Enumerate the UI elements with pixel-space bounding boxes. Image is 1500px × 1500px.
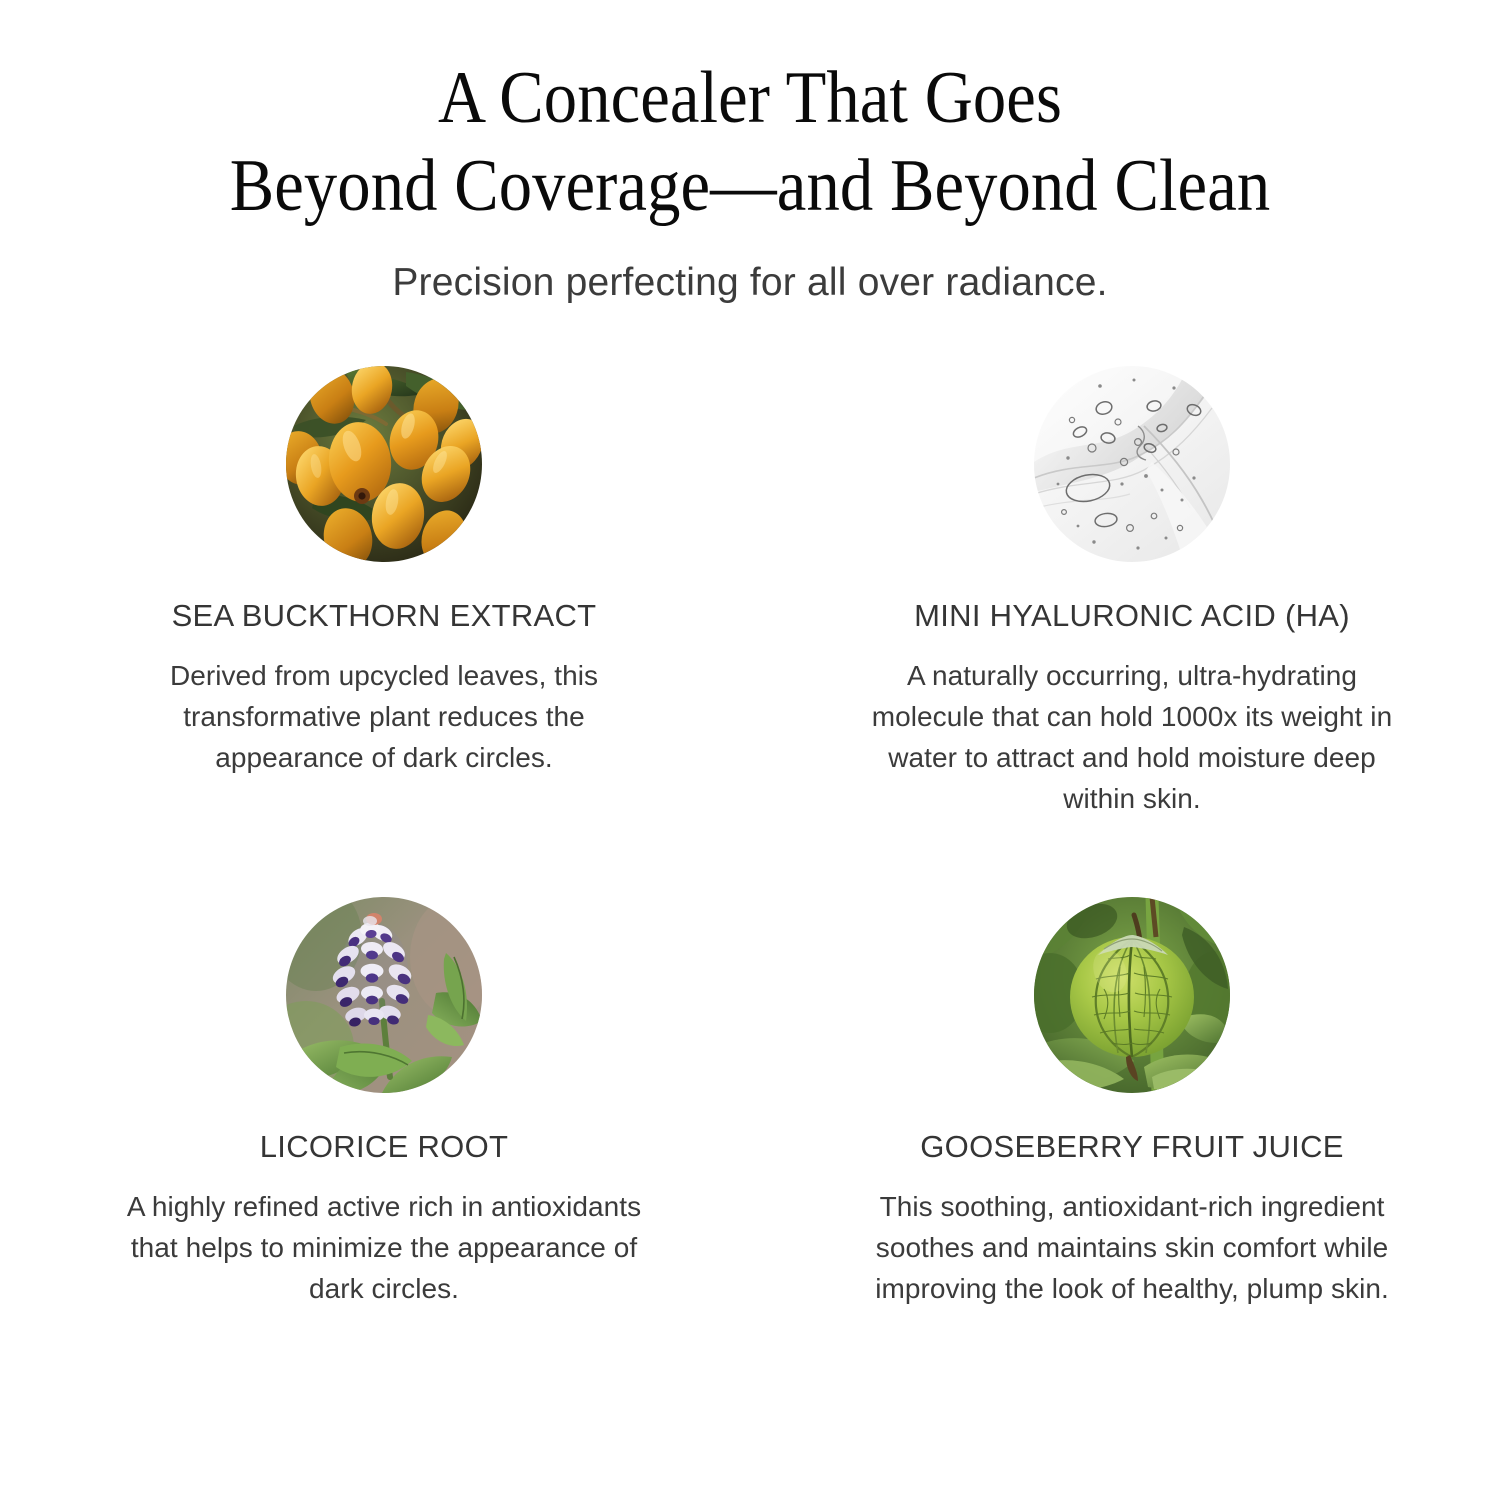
headline-line-2: Beyond Coverage—and Beyond Clean [75, 142, 1425, 230]
page-title: A Concealer That Goes Beyond Coverage—an… [75, 54, 1425, 230]
ingredient-title: MINI HYALURONIC ACID (HA) [914, 598, 1350, 634]
ingredient-title: LICORICE ROOT [260, 1129, 508, 1165]
sea-buckthorn-berries-photo [286, 366, 482, 562]
clear-gel-texture-photo [1034, 366, 1230, 562]
headline-line-1: A Concealer That Goes [75, 54, 1425, 142]
gooseberry-husk-photo [1034, 897, 1230, 1093]
ingredient-story-page: A Concealer That Goes Beyond Coverage—an… [0, 0, 1500, 1500]
ingredient-description: Derived from upcycled leaves, this trans… [124, 655, 644, 778]
licorice-flower-photo [286, 897, 482, 1093]
ingredient-card-gooseberry-fruit-juice: GOOSEBERRY FRUIT JUICE This soothing, an… [750, 893, 1500, 1309]
ingredient-card-mini-hyaluronic-acid: MINI HYALURONIC ACID (HA) A naturally oc… [750, 366, 1500, 819]
ingredient-description: A highly refined active rich in antioxid… [124, 1186, 644, 1309]
ingredient-title: GOOSEBERRY FRUIT JUICE [920, 1129, 1343, 1165]
ingredient-card-sea-buckthorn-extract: SEA BUCKTHORN EXTRACT Derived from upcyc… [0, 366, 750, 819]
page-header: A Concealer That Goes Beyond Coverage—an… [0, 0, 1500, 306]
ingredient-card-licorice-root: LICORICE ROOT A highly refined active ri… [0, 893, 750, 1309]
ingredient-description: This soothing, antioxidant-rich ingredie… [842, 1186, 1422, 1309]
page-subtitle: Precision perfecting for all over radian… [0, 260, 1500, 306]
ingredient-title: SEA BUCKTHORN EXTRACT [172, 598, 597, 634]
ingredients-grid: SEA BUCKTHORN EXTRACT Derived from upcyc… [0, 366, 1500, 1309]
ingredient-description: A naturally occurring, ultra-hydrating m… [860, 655, 1405, 819]
